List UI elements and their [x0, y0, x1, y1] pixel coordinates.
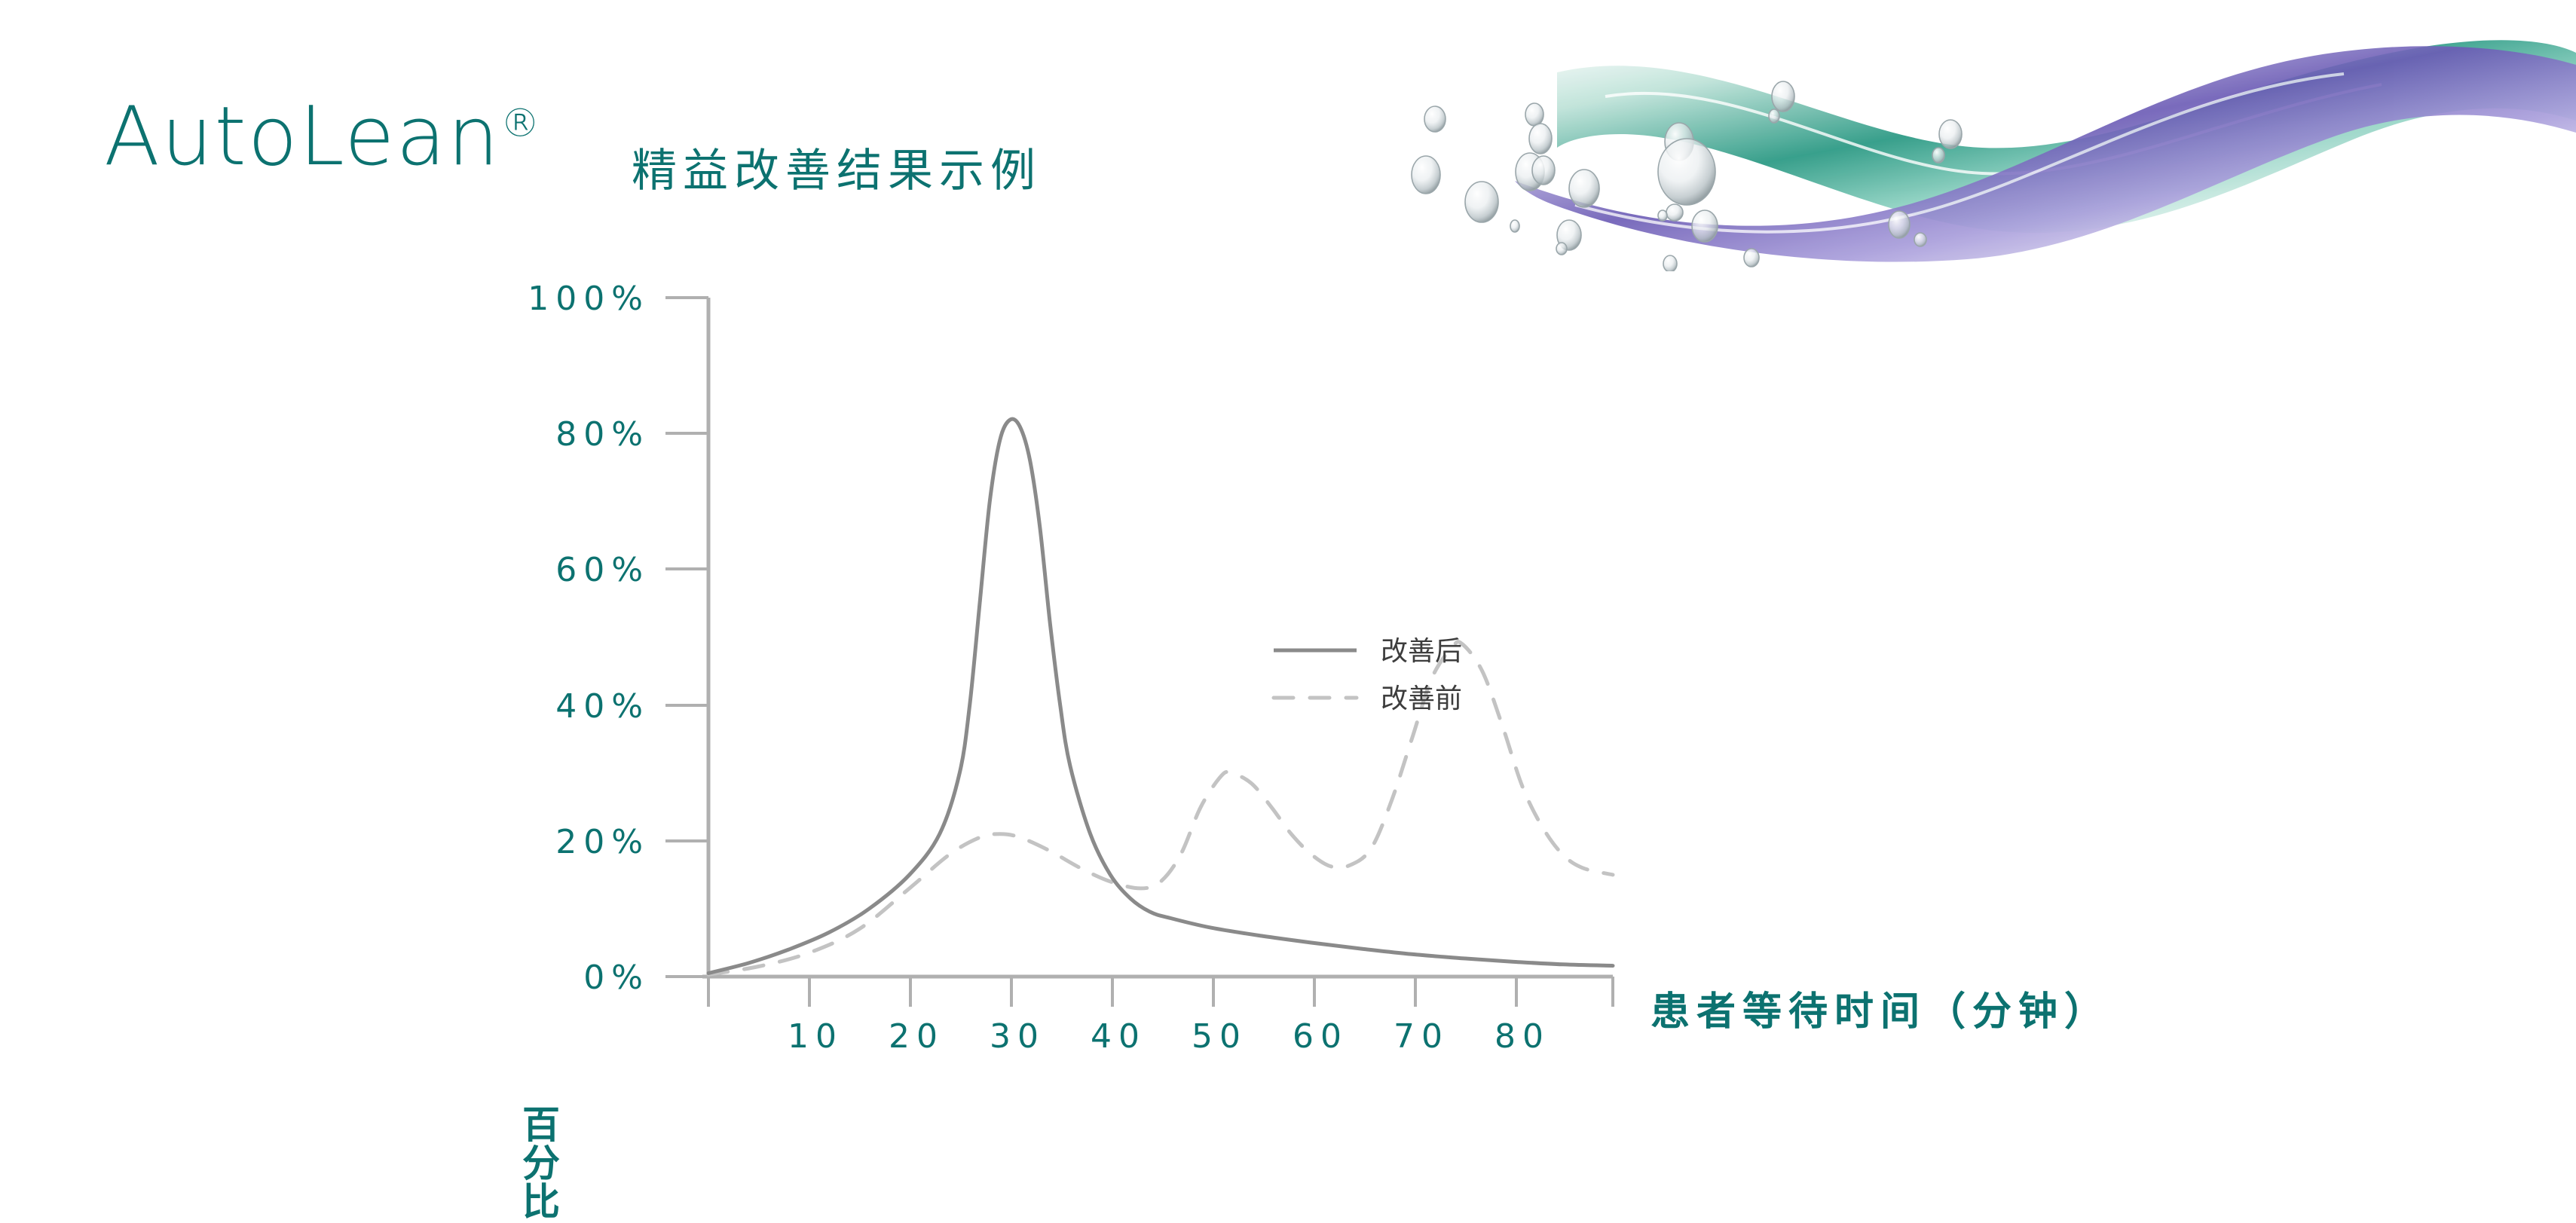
line-chart: 100% 80% 60% 40% 20% 0% 10 20 30 40 50 [0, 271, 2576, 1135]
y-tick-label-60: 60% [555, 551, 650, 589]
x-axis-tick-labels: 10 20 30 40 50 60 70 80 [788, 1017, 1550, 1056]
legend-label-before: 改善前 [1381, 683, 1462, 714]
chart-container: 百 分 比 100% 80% 60% 40% 20% 0% [0, 271, 2576, 1135]
registered-trademark-icon: ® [500, 101, 541, 146]
x-tick-label-30: 30 [990, 1017, 1045, 1056]
x-axis-ticks [708, 977, 1613, 1007]
y-axis-title-char-3: 比 [517, 1183, 565, 1221]
x-tick-label-60: 60 [1293, 1017, 1348, 1056]
y-tick-label-20: 20% [555, 823, 650, 861]
x-axis-title: 患者等待时间（分钟） [1651, 990, 2110, 1034]
chart-legend: 改善后 改善前 [1274, 635, 1462, 714]
series-line-after [708, 419, 1613, 973]
legend-label-after: 改善后 [1381, 635, 1462, 666]
y-tick-label-100: 100% [528, 280, 650, 318]
y-tick-label-40: 40% [555, 687, 650, 726]
brand-logo: AutoLean® [104, 96, 541, 178]
x-tick-label-50: 50 [1192, 1017, 1247, 1056]
y-axis-tick-labels: 100% 80% 60% 40% 20% 0% [528, 280, 650, 997]
y-axis-ticks [665, 298, 708, 977]
page-header: AutoLean® 精益改善结果示例 [0, 0, 2576, 271]
water-ribbon-bubbles-artwork [1379, 0, 2576, 271]
x-tick-label-20: 20 [889, 1017, 944, 1056]
y-tick-label-80: 80% [555, 415, 650, 454]
x-tick-label-40: 40 [1091, 1017, 1146, 1056]
y-tick-label-0: 0% [583, 959, 650, 997]
y-axis-title-char-2: 分 [517, 1145, 565, 1183]
page-subtitle: 精益改善结果示例 [632, 134, 1042, 200]
x-tick-label-10: 10 [788, 1017, 843, 1056]
x-tick-label-80: 80 [1495, 1017, 1550, 1056]
brand-name: AutoLean [104, 90, 500, 184]
x-tick-label-70: 70 [1394, 1017, 1449, 1056]
